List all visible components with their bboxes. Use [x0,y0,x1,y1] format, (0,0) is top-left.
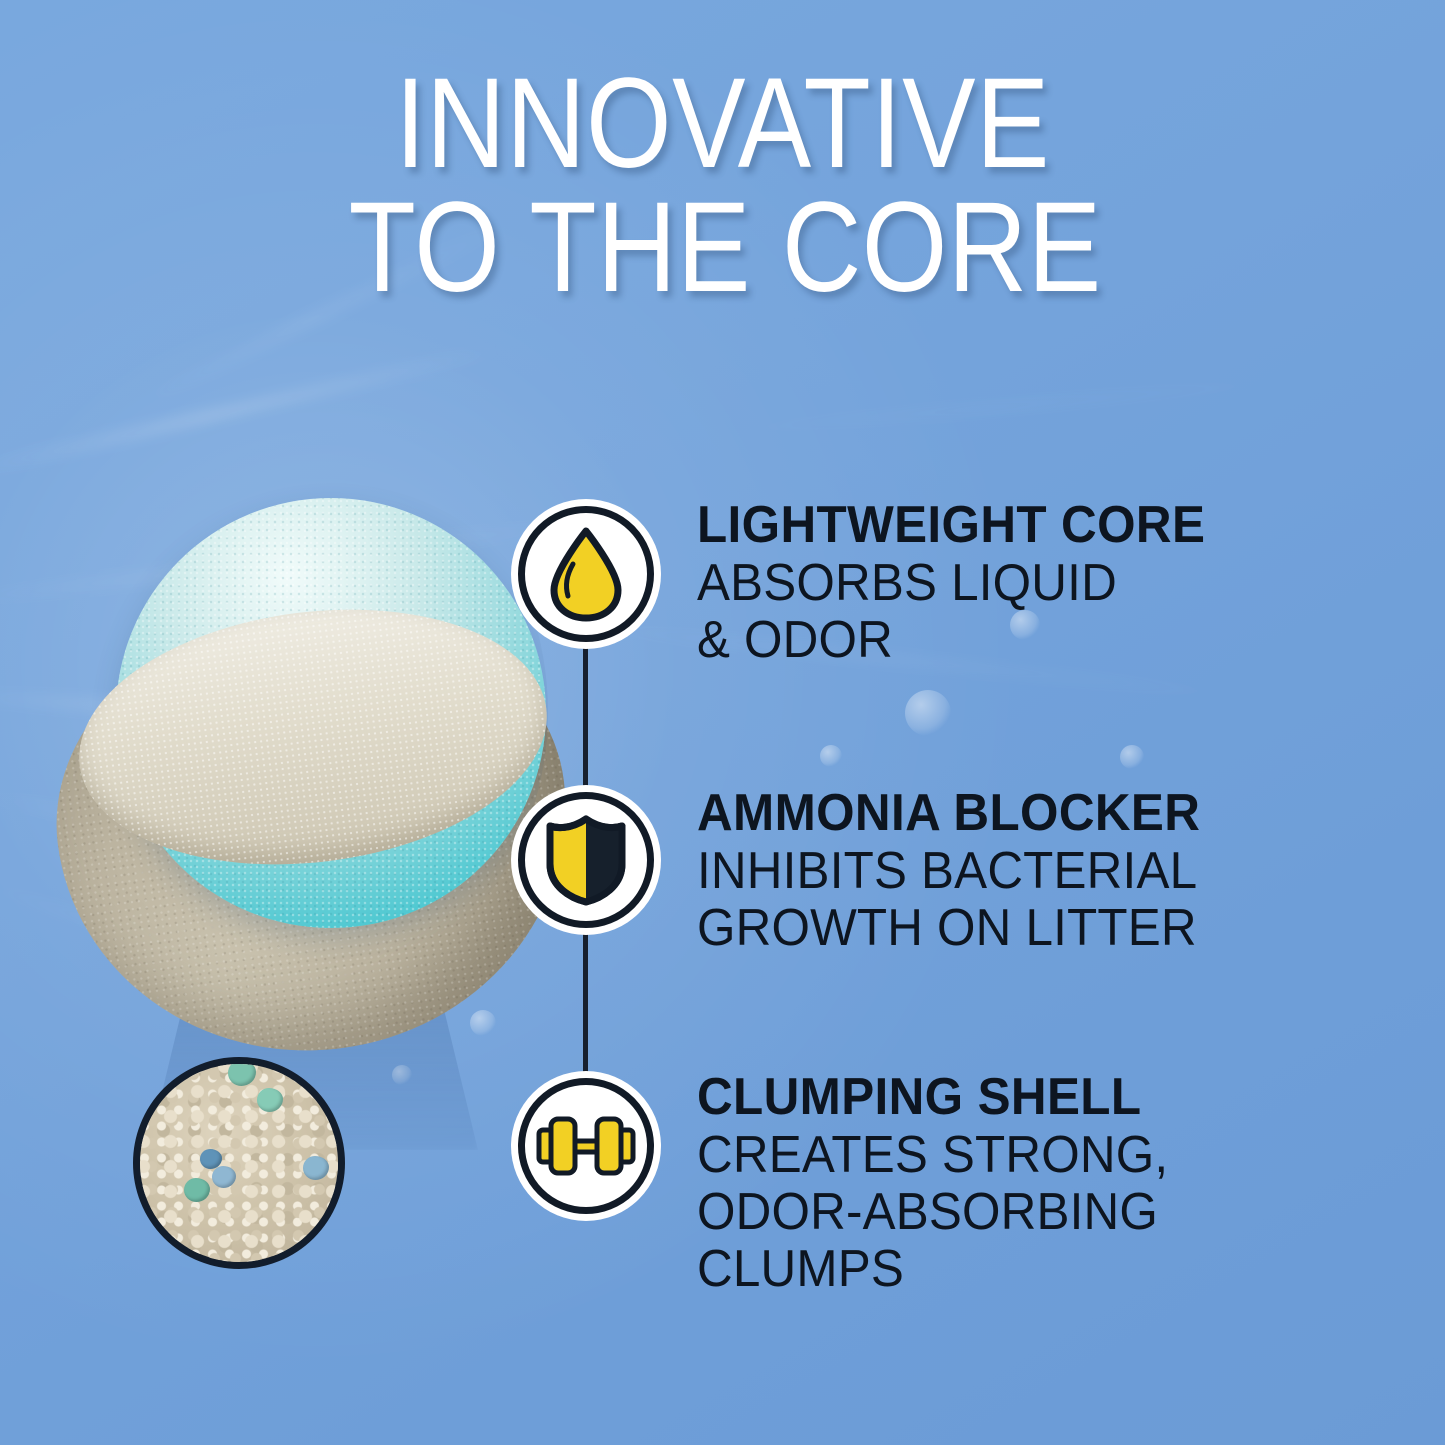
feature-body: ABSORBS LIQUID & ODOR [697,555,1362,669]
headline-line-2: TO THE CORE [101,186,1344,310]
blue-granule [303,1156,329,1180]
page-title: INNOVATIVE TO THE CORE [101,62,1344,310]
blue-granule [212,1166,236,1188]
headline-line-1: INNOVATIVE [101,62,1344,186]
connector-line [583,640,588,805]
bokeh-dot [820,745,842,767]
feature-badge-clumping-shell[interactable] [518,1078,654,1214]
feature-text-clumping-shell: CLUMPING SHELL CREATES STRONG, ODOR-ABSO… [697,1070,1362,1299]
feature-title: LIGHTWEIGHT CORE [697,498,1362,553]
connector-line [583,925,588,1085]
bokeh-dot [905,690,951,736]
teal-granule [228,1060,256,1086]
feature-body-line: GROWTH ON LITTER [697,900,1362,957]
feature-body-line: CREATES STRONG, [697,1127,1362,1184]
dumbbell-icon [536,1110,636,1182]
feature-body: INHIBITS BACTERIAL GROWTH ON LITTER [697,843,1362,957]
teal-granule [257,1088,283,1112]
droplet-icon [547,526,625,622]
feature-body-line: ABSORBS LIQUID [697,555,1362,612]
feature-badge-lightweight-core[interactable] [518,506,654,642]
product-illustration [38,490,598,1050]
feature-body-line: & ODOR [697,612,1362,669]
feature-body-line: CLUMPS [697,1241,1362,1298]
bokeh-dot [1120,745,1144,769]
feature-body-line: ODOR-ABSORBING [697,1184,1362,1241]
feature-body-line: INHIBITS BACTERIAL [697,843,1362,900]
feature-title: AMMONIA BLOCKER [697,786,1362,841]
teal-granule [184,1178,210,1202]
feature-text-ammonia-blocker: AMMONIA BLOCKER INHIBITS BACTERIAL GROWT… [697,786,1362,957]
product-infographic: INNOVATIVE TO THE CORE [0,0,1445,1445]
feature-badge-ammonia-blocker[interactable] [518,792,654,928]
shield-icon [544,814,628,906]
feature-text-lightweight-core: LIGHTWEIGHT CORE ABSORBS LIQUID & ODOR [697,498,1362,669]
feature-body: CREATES STRONG, ODOR-ABSORBING CLUMPS [697,1127,1362,1299]
feature-title: CLUMPING SHELL [697,1070,1362,1125]
litter-granules-closeup [133,1057,345,1269]
